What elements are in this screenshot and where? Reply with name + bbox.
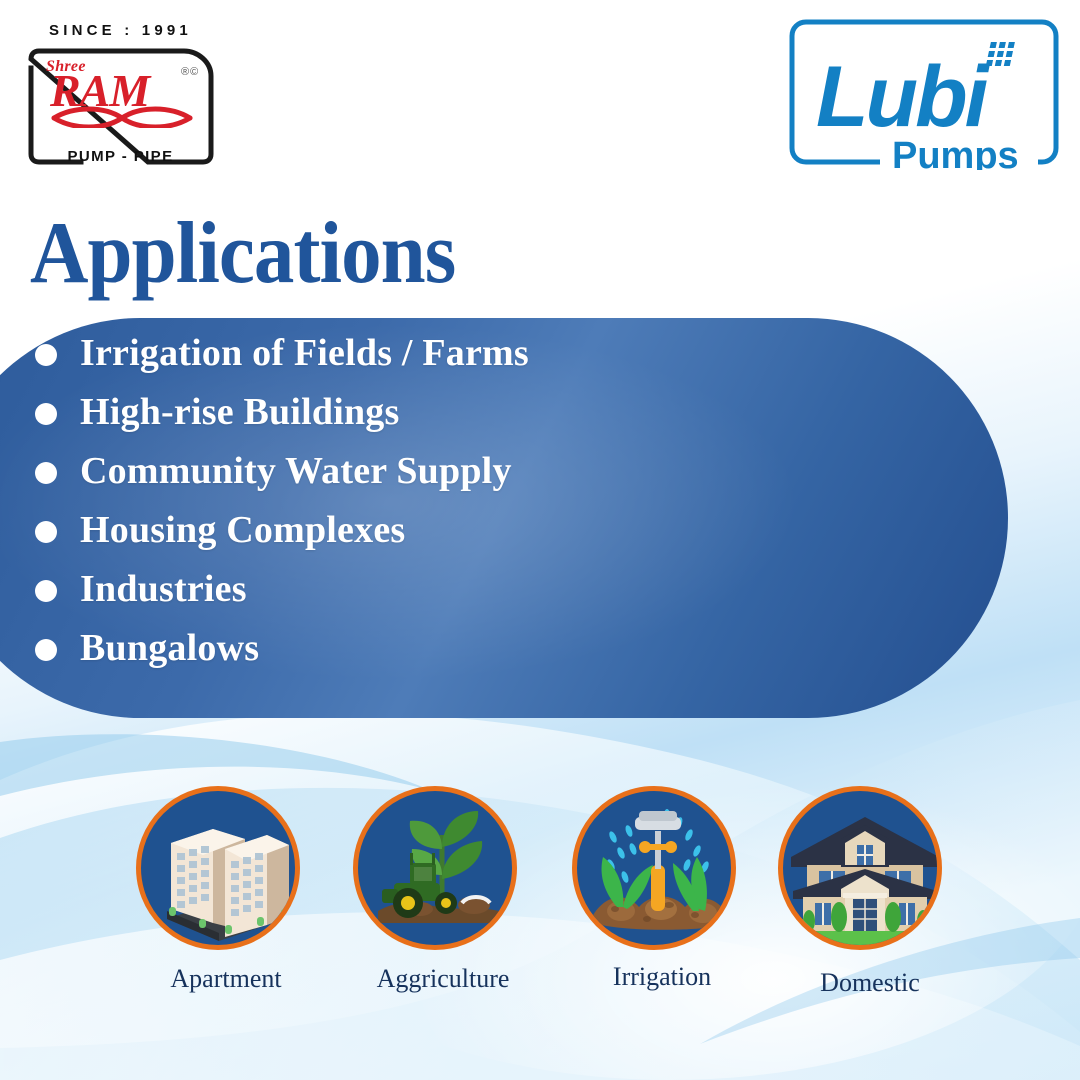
icon-label: Aggriculture — [343, 964, 543, 994]
apartment-circle — [136, 786, 300, 950]
house-icon — [783, 791, 942, 950]
apartment-building-icon — [141, 791, 300, 950]
irrigation-circle — [572, 786, 736, 950]
domestic-circle — [778, 786, 942, 950]
icon-label: Apartment — [126, 964, 326, 994]
icon-label: Irrigation — [562, 962, 762, 992]
aggriculture-circle — [353, 786, 517, 950]
sprinkler-icon — [577, 791, 736, 950]
poster-canvas: SINCE : 1991 Shree RAM ®© PUMP - PIPE Lu… — [0, 0, 1080, 1080]
icon-item-irrigation[interactable]: Irrigation — [572, 786, 752, 950]
icon-item-domestic[interactable]: Domestic — [778, 786, 958, 950]
application-icons-row: Apartment — [0, 0, 1080, 1080]
icon-item-aggriculture[interactable]: Aggriculture — [353, 786, 533, 950]
tractor-crop-icon — [358, 791, 517, 950]
icon-label: Domestic — [770, 968, 970, 998]
icon-item-apartment[interactable]: Apartment — [136, 786, 316, 950]
